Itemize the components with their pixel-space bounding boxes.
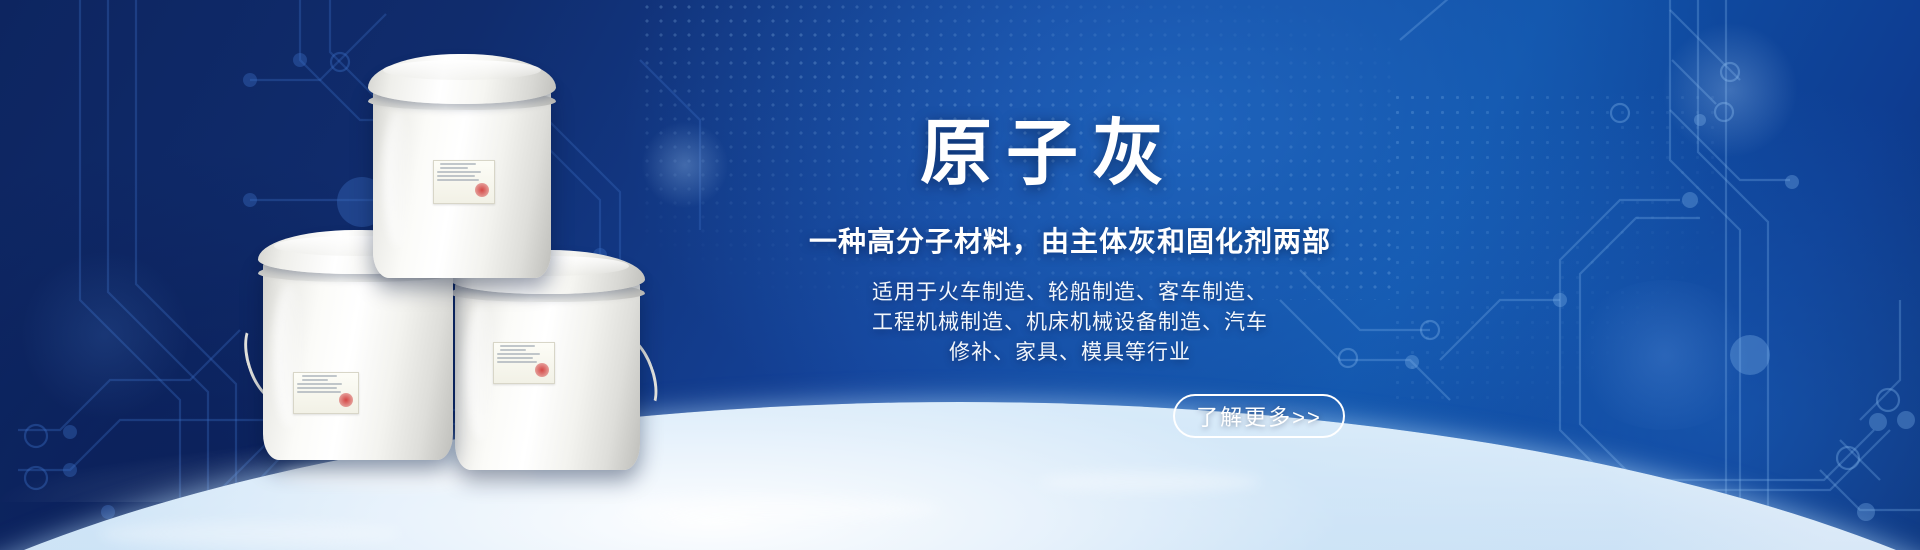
banner-subtitle: 一种高分子材料，由主体灰和固化剂两部: [620, 220, 1520, 260]
description-line-2: 工程机械制造、机床机械设备制造、汽车: [620, 308, 1520, 338]
bucket-body: [455, 280, 640, 470]
bucket-highlight: [466, 303, 496, 440]
light-glow: [20, 250, 190, 420]
description-line-1: 适用于火车制造、轮船制造、客车制造、: [620, 278, 1520, 308]
description-line-3: 修补、家具、模具等行业: [620, 338, 1520, 368]
bucket-highlight: [384, 111, 412, 248]
bucket-body: [263, 260, 453, 460]
banner-content: 原子灰 一种高分子材料，由主体灰和固化剂两部 适用于火车制造、轮船制造、客车制造…: [620, 0, 1520, 550]
banner-description: 适用于火车制造、轮船制造、客车制造、 工程机械制造、机床机械设备制造、汽车 修补…: [620, 278, 1520, 368]
bucket-top: [373, 88, 551, 278]
product-bucket-group: [255, 80, 675, 430]
bucket-label: [433, 160, 495, 204]
bucket-body: [373, 88, 551, 278]
bucket-lid: [368, 54, 556, 104]
bucket-label: [293, 372, 359, 414]
learn-more-button[interactable]: 了解更多>>: [1173, 394, 1345, 438]
bucket-left: [263, 260, 453, 460]
bucket-right: [455, 280, 640, 470]
bucket-label: [493, 342, 555, 384]
promo-banner: 原子灰 一种高分子材料，由主体灰和固化剂两部 适用于火车制造、轮船制造、客车制造…: [0, 0, 1920, 550]
page-title: 原子灰: [920, 118, 1178, 190]
